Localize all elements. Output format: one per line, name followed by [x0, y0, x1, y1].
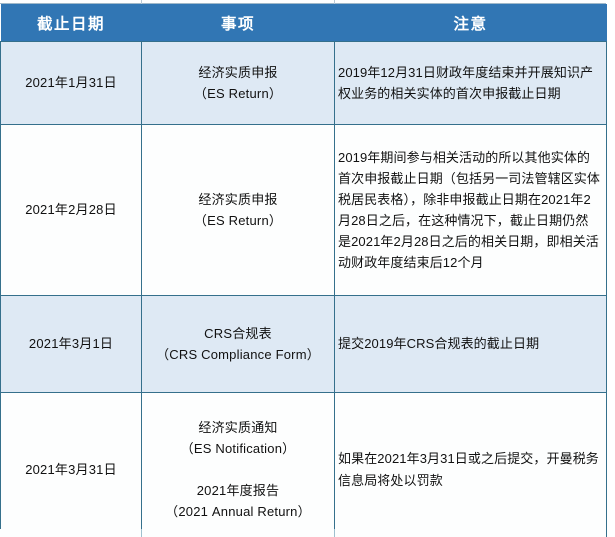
- cell-deadline-date: 2021年2月28日: [1, 125, 142, 296]
- item-line: 2021年度报告: [144, 480, 332, 501]
- cell-deadline-date: 2021年1月31日: [1, 42, 142, 125]
- item-line: （ES Return）: [144, 210, 332, 231]
- item-line: 经济实质申报: [144, 62, 332, 83]
- cell-item: 经济实质通知 （ES Notification） 2021年度报告 （2021 …: [142, 393, 335, 537]
- item-line: （CRS Compliance Form）: [144, 344, 332, 365]
- item-line: （ES Notification）: [144, 438, 332, 459]
- cell-note: 提交2019年CRS合规表的截止日期: [335, 296, 607, 393]
- column-header-note: 注意: [335, 4, 607, 42]
- item-line: 经济实质申报: [144, 189, 332, 210]
- cell-item: CRS合规表 （CRS Compliance Form）: [142, 296, 335, 393]
- cell-note: 如果在2021年3月31日或之后提交，开曼税务信息局将处以罚款: [335, 393, 607, 537]
- cell-item: 经济实质申报 （ES Return）: [142, 125, 335, 296]
- cell-note: 2019年期间参与相关活动的所以其他实体的首次申报截止日期（包括另一司法管辖区实…: [335, 125, 607, 296]
- item-line: （2021 Annual Return）: [144, 501, 332, 522]
- item-line: CRS合规表: [144, 323, 332, 344]
- item-line: （ES Return）: [144, 83, 332, 104]
- table-row: 2021年3月31日 经济实质通知 （ES Notification） 2021…: [1, 393, 607, 537]
- table-row: 2021年2月28日 经济实质申报 （ES Return） 2019年期间参与相…: [1, 125, 607, 296]
- cell-item: 经济实质申报 （ES Return）: [142, 42, 335, 125]
- column-divider-2-sliver: [334, 529, 335, 537]
- cell-deadline-date: 2021年3月31日: [1, 393, 142, 537]
- screenshot-root: 截止日期 事项 注意 2021年1月31日 经济实质申报 （ES Return）…: [0, 0, 615, 537]
- item-line-spacer: [144, 460, 332, 480]
- table-body: 2021年1月31日 经济实质申报 （ES Return） 2019年12月31…: [1, 42, 607, 537]
- header-row: 截止日期 事项 注意: [1, 4, 607, 42]
- cell-note: 2019年12月31日财政年度结束并开展知识产权业务的相关实体的首次申报截止日期: [335, 42, 607, 125]
- item-line: 经济实质通知: [144, 417, 332, 438]
- column-header-item: 事项: [142, 4, 335, 42]
- column-header-deadline-date: 截止日期: [1, 4, 142, 42]
- table-row: 2021年1月31日 经济实质申报 （ES Return） 2019年12月31…: [1, 42, 607, 125]
- table-row: 2021年3月1日 CRS合规表 （CRS Compliance Form） 提…: [1, 296, 607, 393]
- table-header: 截止日期 事项 注意: [1, 4, 607, 42]
- column-divider-1-sliver: [141, 529, 142, 537]
- cell-deadline-date: 2021年3月1日: [1, 296, 142, 393]
- compliance-deadline-table: 截止日期 事项 注意 2021年1月31日 经济实质申报 （ES Return）…: [0, 4, 607, 537]
- clipped-row-below: [0, 529, 606, 537]
